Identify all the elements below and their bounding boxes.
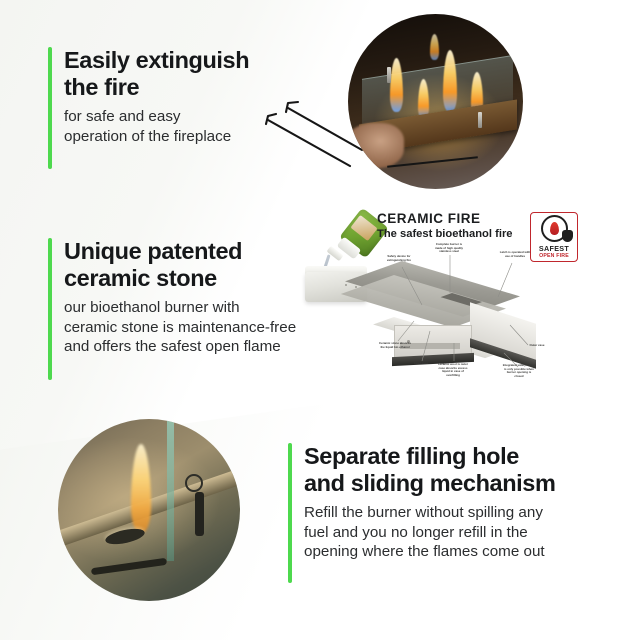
brand-lockup: CERAMIC FIRE The safest bioethanol fire	[377, 211, 527, 241]
diagram-leader-lines	[378, 243, 578, 391]
glass-mount-pin	[387, 67, 391, 83]
glass-panel	[167, 419, 174, 561]
accent-bar-green	[48, 238, 52, 380]
flame-spark	[430, 34, 439, 60]
diagram-label: Ceramic wool is outer case absorbs exces…	[436, 363, 470, 377]
body-line-3: opening where the flames come out	[304, 543, 545, 560]
infographic-page: Easily extinguish the fire for safe and …	[0, 0, 640, 640]
diagram-label: Outer case	[520, 344, 554, 348]
knob-stem	[195, 492, 204, 536]
hand	[348, 123, 404, 169]
brand-tagline: The safest bioethanol fire	[377, 227, 527, 241]
brand-title: CERAMIC FIRE	[377, 211, 527, 226]
flame	[131, 444, 151, 532]
shield-icon	[562, 230, 573, 242]
heading-line-2: ceramic stone	[64, 265, 217, 291]
flame	[443, 50, 457, 112]
section-body: Refill the burner without spilling any f…	[304, 503, 594, 562]
body-line-2: ceramic stone is maintenance-free	[64, 319, 296, 336]
diagram-label: Safety device for extinguishing fire	[382, 255, 416, 262]
glass-mount-pin	[478, 112, 482, 128]
body-line-2: fuel and you no longer refill in the	[304, 524, 528, 541]
diagram-label: Complete burner is made of high quality …	[432, 243, 466, 254]
exploded-burner-diagram: Safety device for extinguishing fire Com…	[378, 243, 578, 391]
heading-line-2: the fire	[64, 74, 139, 100]
body-line-1: Refill the burner without spilling any	[304, 504, 543, 521]
heading-line-1: Separate filling hole	[304, 443, 519, 469]
control-knob-icon	[185, 474, 203, 492]
diagram-label: Ceramic stone absorbs the liquid bio eth…	[378, 342, 412, 349]
accent-bar-green	[48, 47, 52, 169]
section-heading: Separate filling hole and sliding mechan…	[304, 443, 594, 497]
accent-bar-green	[288, 443, 292, 583]
diagram-label: Integrated safety: filling is only possi…	[502, 364, 536, 378]
body-line-3: and offers the safest open flame	[64, 338, 281, 355]
diagram-label: Latch is operated with use of handles	[498, 251, 532, 258]
heading-line-2: and sliding mechanism	[304, 470, 555, 496]
diagram-label: Inner case	[404, 362, 438, 366]
feature-text-group: Separate filling hole and sliding mechan…	[288, 443, 594, 562]
flame-icon	[550, 222, 559, 235]
body-line-2: operation of the fireplace	[64, 128, 231, 145]
burner-opening-slot	[91, 557, 168, 575]
feature-section-ceramic-stone: Unique patented ceramic stone our bioeth…	[48, 238, 348, 357]
flame	[390, 58, 403, 112]
photo-filling-hole-closeup	[58, 419, 240, 601]
stone-hole	[345, 284, 347, 286]
feature-text-group: Unique patented ceramic stone our bioeth…	[48, 238, 348, 357]
heading-line-1: Unique patented	[64, 238, 242, 264]
flame-circle-icon	[541, 215, 568, 242]
photo-burner-with-flames	[348, 14, 523, 189]
feature-section-filling-hole: Separate filling hole and sliding mechan…	[288, 443, 594, 562]
section-heading: Easily extinguish the fire	[64, 47, 323, 101]
body-line-1: our bioethanol burner with	[64, 299, 240, 316]
heading-line-1: Easily extinguish	[64, 47, 249, 73]
body-line-1: for safe and easy	[64, 108, 181, 125]
